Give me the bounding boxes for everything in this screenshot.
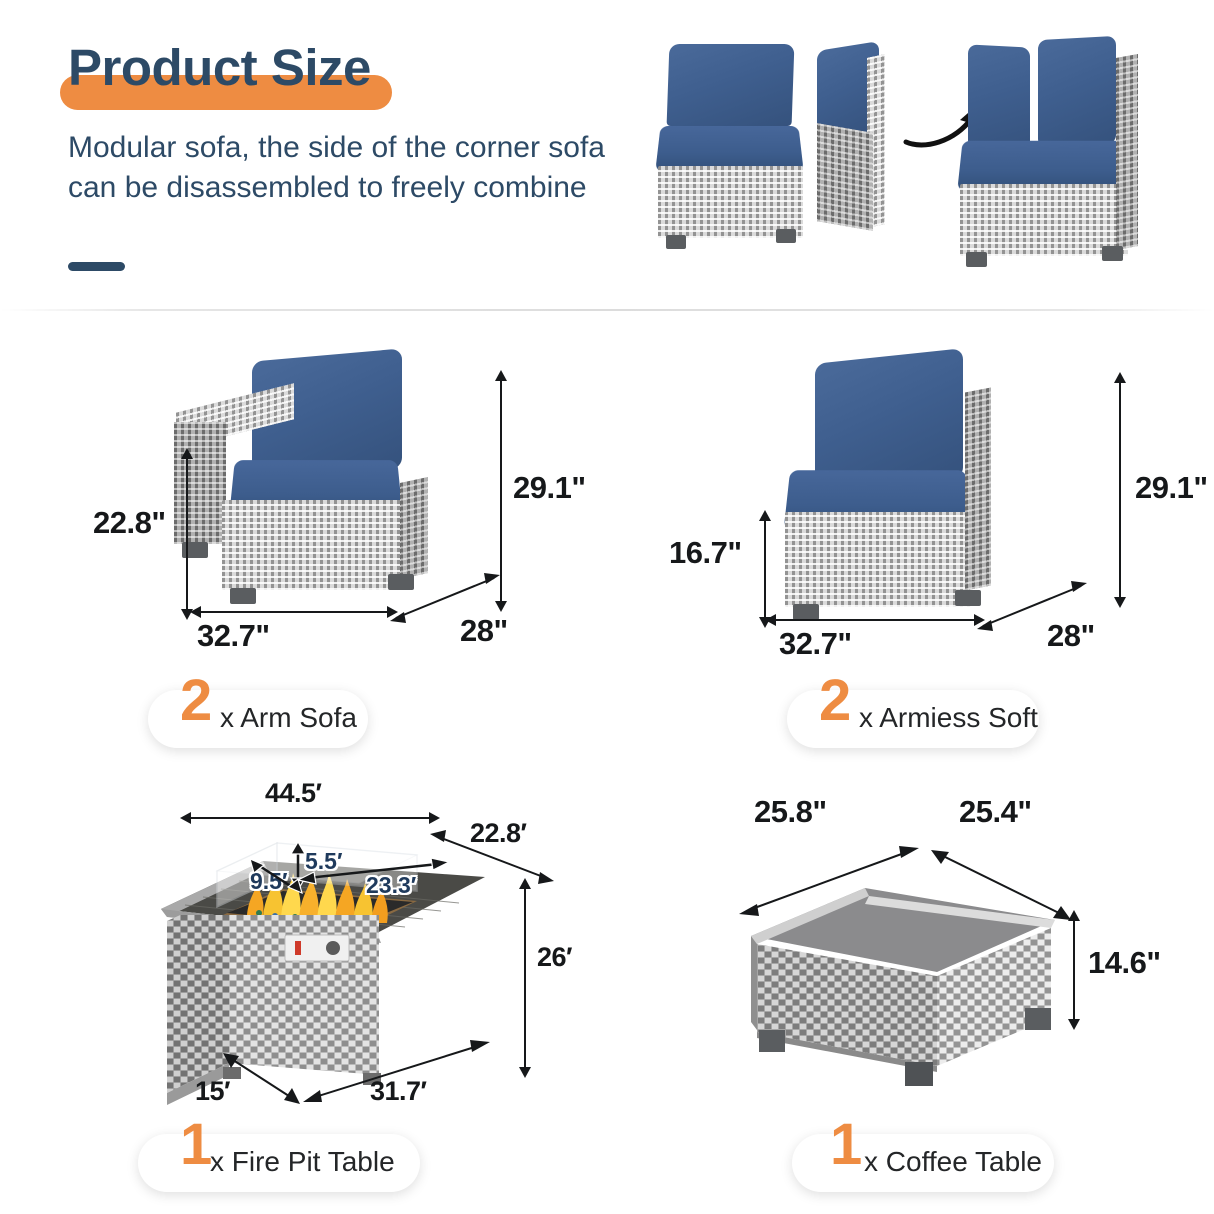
armless-base-wicker <box>785 512 971 607</box>
coffee-table-height-line <box>1073 920 1075 1020</box>
arm-sofa-height-back-line <box>500 380 502 602</box>
armless-width-arrow-left <box>765 614 776 626</box>
fire-pit-control-panel <box>283 931 353 967</box>
arm-sofa-width-label: 32.7" <box>197 618 270 654</box>
sofa-base-wicker <box>658 166 803 238</box>
armless-depth-label: 28" <box>1047 618 1095 654</box>
corner-foot-left <box>966 252 987 267</box>
armless-sofa-badge: 2 x Armiess Soft <box>787 690 1039 748</box>
fire-pit-height-arrow-top <box>519 878 531 889</box>
arm-sofa-width-line <box>200 611 388 613</box>
arm-sofa-height-back-arrow-top <box>495 370 507 381</box>
side-panel-wicker-face <box>817 123 873 231</box>
fire-pit-height-arrow-bottom <box>519 1067 531 1078</box>
coffee-table-label: x Coffee Table <box>864 1146 1042 1178</box>
armless-sofa-front-illustration <box>640 26 820 276</box>
corner-back-cushion-right <box>1038 36 1116 148</box>
arm-sofa-height-front-arrow-top <box>181 448 193 459</box>
armless-sofa-count: 2 <box>819 672 849 730</box>
fire-pit-table-label: x Fire Pit Table <box>210 1146 395 1178</box>
coffee-table-count: 1 <box>830 1116 860 1174</box>
header-divider <box>0 309 1214 311</box>
page-subtitle: Modular sofa, the side of the corner sof… <box>68 128 628 208</box>
armless-sofa-panel: 16.7" 29.1" 32.7" 28" 2 x Armiess Soft <box>607 330 1214 760</box>
fire-pit-height-label: 26′ <box>537 942 572 973</box>
arm-sofa-label: x Arm Sofa <box>220 702 357 734</box>
corner-back-cushion-left <box>968 44 1030 152</box>
corner-foot-right <box>1102 246 1123 261</box>
fire-pit-base-depth-label: 15′ <box>195 1076 230 1107</box>
corner-sofa-assembled-illustration <box>950 24 1180 282</box>
armless-base-side <box>965 387 991 590</box>
coffee-table-badge: 1 x Coffee Table <box>792 1134 1054 1192</box>
fire-pit-top-width-line <box>190 817 430 819</box>
page-title: Product Size <box>68 42 371 93</box>
armless-width-line <box>775 619 975 621</box>
armless-height-seat-label: 16.7" <box>669 535 742 571</box>
coffee-table-depth-label: 25.8" <box>754 794 827 830</box>
page-title-wrap: Product Size <box>68 42 371 93</box>
arm-sofa-foot-mid <box>230 588 256 604</box>
coffee-table-width-line <box>929 842 1079 932</box>
arm-sofa-panel: 22.8" 29.1" 32.7" 28" 2 x Arm Sofa <box>0 330 607 760</box>
fire-pit-height-line <box>524 888 526 1068</box>
fire-pit-top-depth-label: 22.8′ <box>470 818 527 849</box>
coffee-table-height-arrow-bottom <box>1068 1019 1080 1030</box>
arm-sofa-count: 2 <box>180 672 210 730</box>
arm-sofa-height-front-line <box>186 458 188 610</box>
arm-sofa-arm-side <box>174 422 226 544</box>
armless-height-seat-line <box>764 520 766 618</box>
arm-sofa-badge: 2 x Arm Sofa <box>148 690 368 748</box>
fire-pit-table-count: 1 <box>180 1116 210 1174</box>
sofa-foot-right <box>776 229 796 243</box>
fire-pit-top-width-arrow-left <box>180 812 191 824</box>
coffee-table-width-label: 25.4" <box>959 794 1032 830</box>
armless-height-back-arrow-bottom <box>1114 597 1126 608</box>
fire-pit-base-width-label: 31.7′ <box>370 1076 427 1107</box>
coffee-table-height-label: 14.6" <box>1088 945 1161 981</box>
armless-height-seat-arrow-top <box>759 510 771 521</box>
armless-sofa-label: x Armiess Soft <box>859 702 1038 734</box>
armless-height-back-label: 29.1" <box>1135 470 1208 506</box>
arm-sofa-depth-label: 28" <box>460 613 508 649</box>
arm-sofa-height-back-label: 29.1" <box>513 470 586 506</box>
header-section: Product Size Modular sofa, the side of t… <box>0 0 1214 310</box>
armless-height-back-line <box>1119 382 1121 598</box>
armless-width-label: 32.7" <box>779 626 852 662</box>
sofa-foot-left <box>666 235 686 249</box>
fire-pit-top-width-label: 44.5′ <box>265 778 322 809</box>
accent-dash <box>68 262 125 271</box>
corner-side-wicker <box>1116 54 1138 250</box>
armless-height-back-arrow-top <box>1114 372 1126 383</box>
coffee-table-depth-line <box>735 840 925 926</box>
fire-pit-burner-width-arrow <box>296 858 451 886</box>
header-illustration-group <box>620 18 1200 293</box>
coffee-table-height-arrow-top <box>1068 910 1080 921</box>
fire-pit-table-badge: 1 x Fire Pit Table <box>138 1134 420 1192</box>
seat-cushion <box>655 126 804 172</box>
back-cushion <box>667 44 795 126</box>
arm-sofa-height-front-label: 22.8" <box>93 505 166 541</box>
armless-foot-left <box>793 604 819 620</box>
arm-sofa-width-arrow-left <box>190 606 201 618</box>
arm-sofa-base-side <box>400 477 428 579</box>
coffee-table-panel: 25.8" 25.4" 14.6" 1 x Coffee Table <box>607 760 1214 1214</box>
arm-sofa-base-wicker <box>222 500 404 590</box>
fire-pit-table-panel: 44.5′ 22.8′ 5.5′ 9.5′ 23.3′ 26′ 15′ <box>0 760 607 1214</box>
